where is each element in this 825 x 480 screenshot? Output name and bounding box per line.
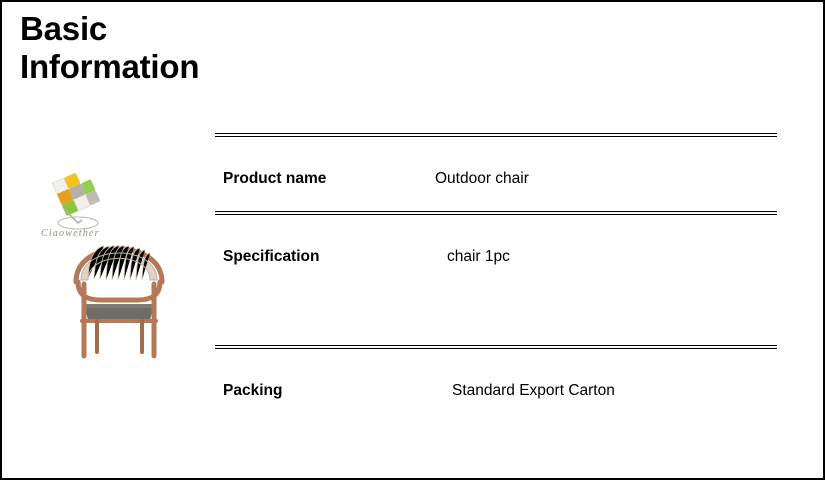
page-title-line-1: Basic (20, 10, 107, 47)
specification-table: Product name Outdoor chair Specification… (215, 133, 777, 409)
spec-value-product-name: Outdoor chair (435, 170, 529, 188)
page-title-line-2: Information (20, 48, 199, 85)
spec-label-specification: Specification (223, 248, 319, 266)
page-title: Basic Information (20, 10, 350, 86)
table-row: Product name Outdoor chair (215, 137, 777, 211)
svg-text:Ciaowether: Ciaowether (41, 228, 100, 239)
outdoor-chair-image (54, 220, 184, 360)
spec-value-packing: Standard Export Carton (452, 382, 615, 400)
spec-label-packing: Packing (223, 382, 282, 400)
product-figure: Ciaowether (24, 165, 199, 360)
brand-logo-watermark: Ciaowether (38, 167, 122, 239)
spec-label-product-name: Product name (223, 170, 326, 188)
table-row: Specification chair 1pc (215, 215, 777, 345)
table-row: Packing Standard Export Carton (215, 349, 777, 409)
spec-value-specification: chair 1pc (447, 248, 510, 266)
slide-page: Basic Information Ciaowether (0, 0, 825, 480)
